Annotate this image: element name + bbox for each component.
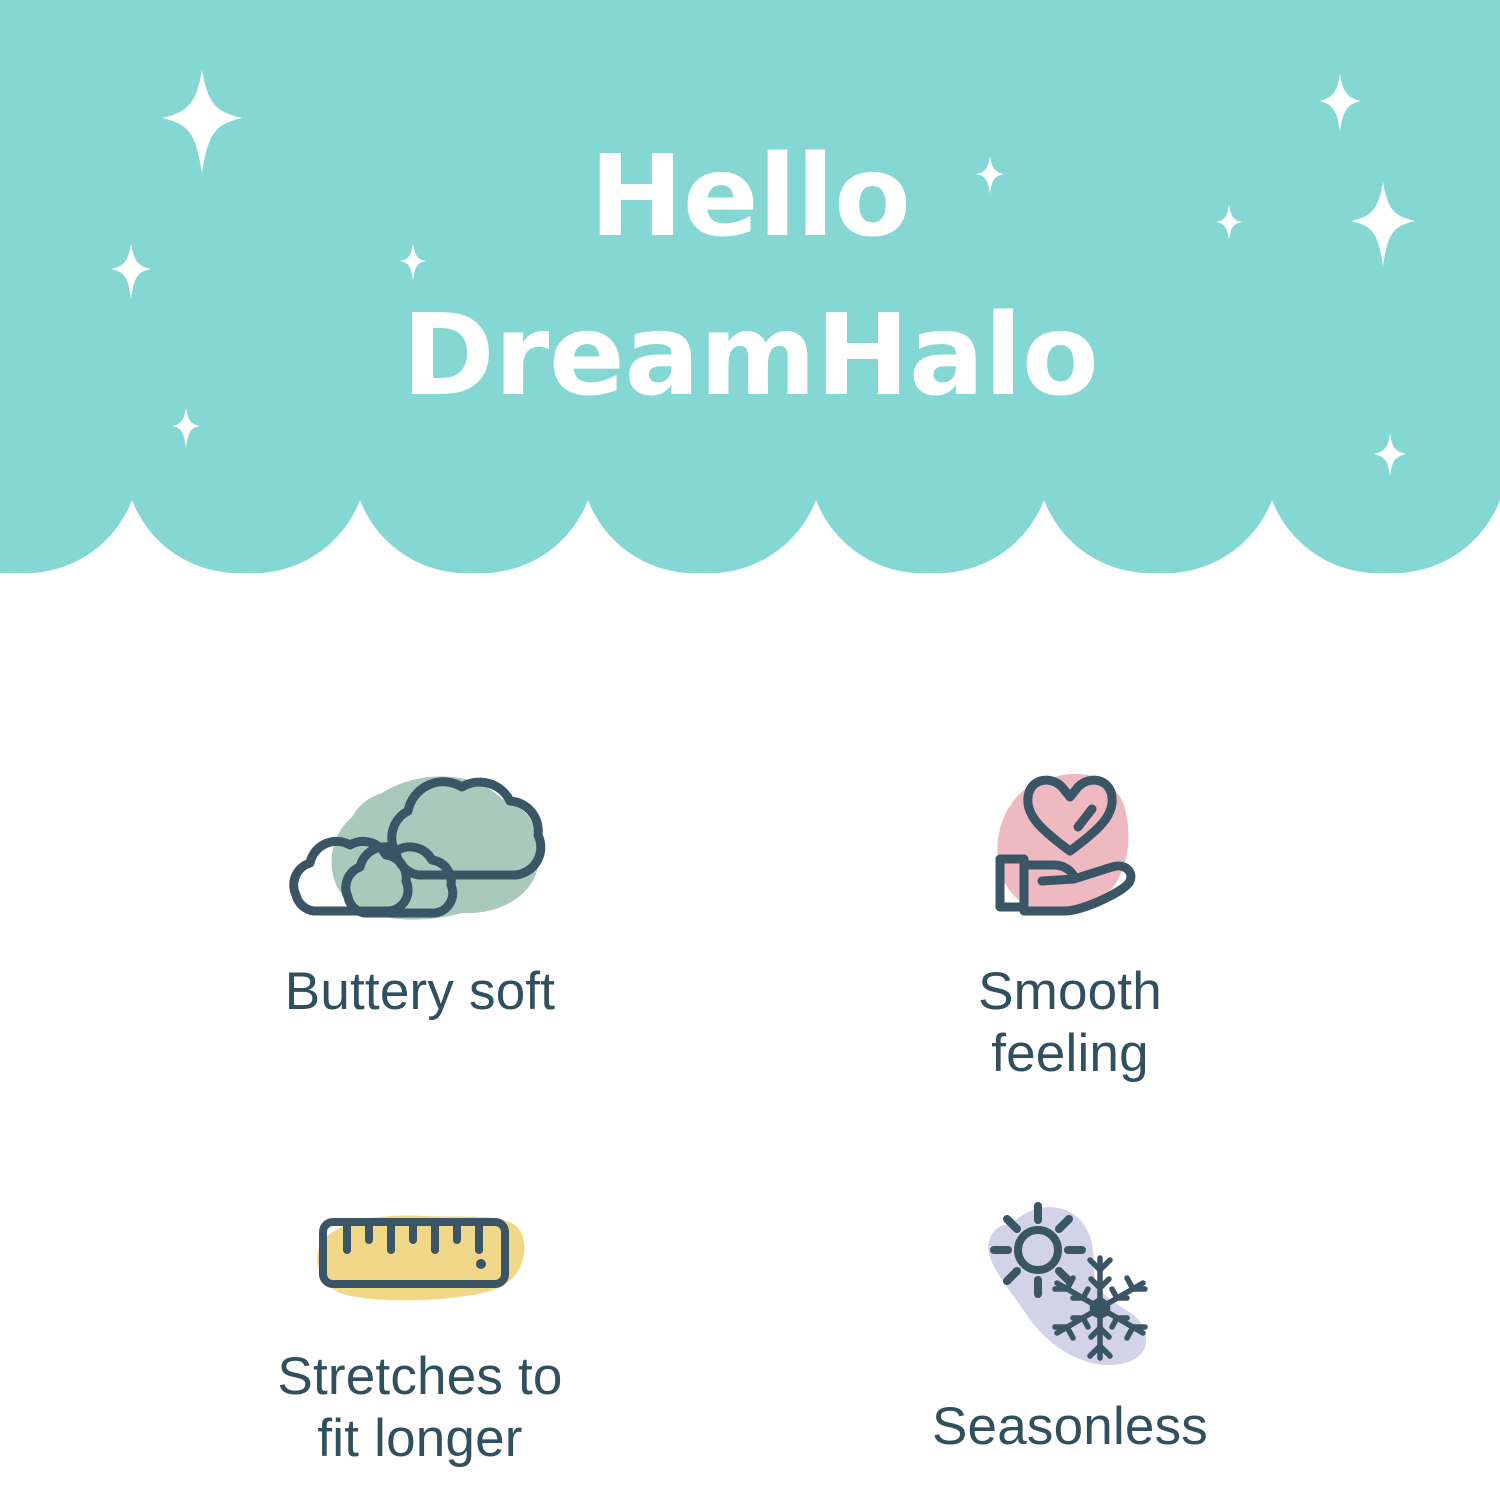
feature-item-seasonless: Seasonless <box>810 1190 1330 1458</box>
feature-grid: Buttery soft <box>0 600 1500 1492</box>
sun-snowflake-icon <box>960 1190 1180 1370</box>
cloud-icon <box>270 755 570 935</box>
page-title: Hello DreamHalo <box>0 118 1500 436</box>
feature-item-buttery-soft: Buttery soft <box>160 755 680 1023</box>
feature-label-stretches-to-fit-longer: Stretches to fit longer <box>277 1346 562 1470</box>
header-banner: Hello DreamHalo <box>0 0 1500 600</box>
feature-item-smooth-feeling: Smooth feeling <box>810 755 1330 1085</box>
feature-label-buttery-soft: Buttery soft <box>285 961 555 1023</box>
hand-holding-heart-icon <box>970 755 1170 935</box>
feature-item-stretches-to-fit-longer: Stretches to fit longer <box>160 1200 680 1470</box>
feature-label-seasonless: Seasonless <box>932 1396 1208 1458</box>
feature-label-smooth-feeling: Smooth feeling <box>978 961 1162 1085</box>
promo-graphic: Hello DreamHalo But <box>0 0 1500 1492</box>
ruler-icon <box>305 1200 535 1320</box>
